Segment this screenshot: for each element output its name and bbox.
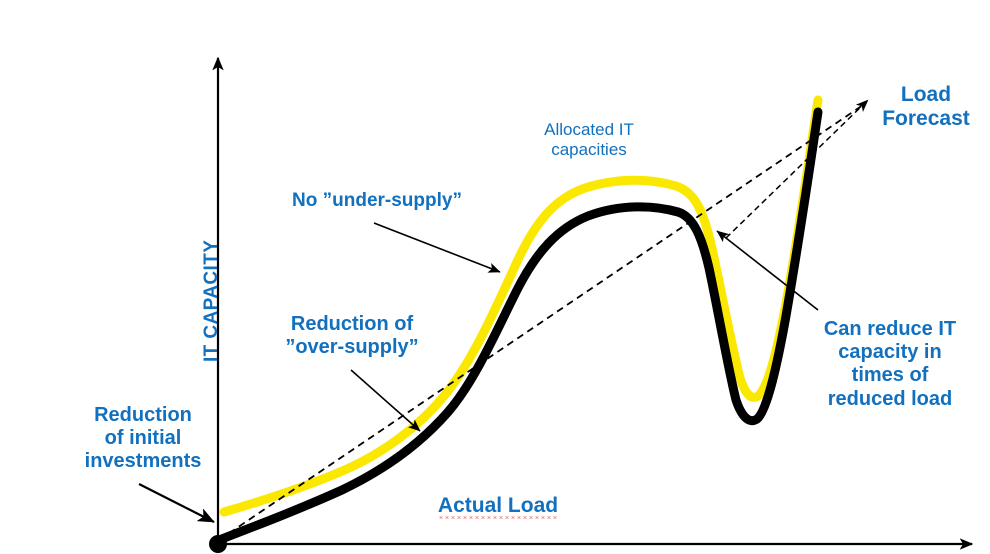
annotation-no-under-supply: No ”under-supply” xyxy=(266,190,488,212)
annotation-reduction-initial-investments: Reduction of initial investments xyxy=(58,404,228,474)
y-axis-label: IT CAPACITY xyxy=(201,240,223,362)
annotation-allocated-it-capacities: Allocated IT capacities xyxy=(504,120,674,159)
annotation-can-reduce-it-capacity: Can reduce IT capacity in times of reduc… xyxy=(800,318,980,411)
actual-load-text: Actual Load xyxy=(438,494,558,519)
annotation-actual-load: Actual Load xyxy=(418,470,578,519)
reduction-initial-investments-arrow xyxy=(139,484,214,522)
reduction-over-supply-arrow xyxy=(351,370,420,431)
no-under-supply-arrow xyxy=(374,223,500,272)
can-reduce-it-capacity-arrow xyxy=(717,231,818,310)
annotation-reduction-over-supply: Reduction of ”over-supply” xyxy=(262,313,442,359)
annotation-load-forecast: Load Forecast xyxy=(864,83,988,132)
diagram-canvas: IT CAPACITY Allocated IT capacities No ”… xyxy=(0,0,990,554)
series-allocated-it-capacities xyxy=(224,100,818,512)
